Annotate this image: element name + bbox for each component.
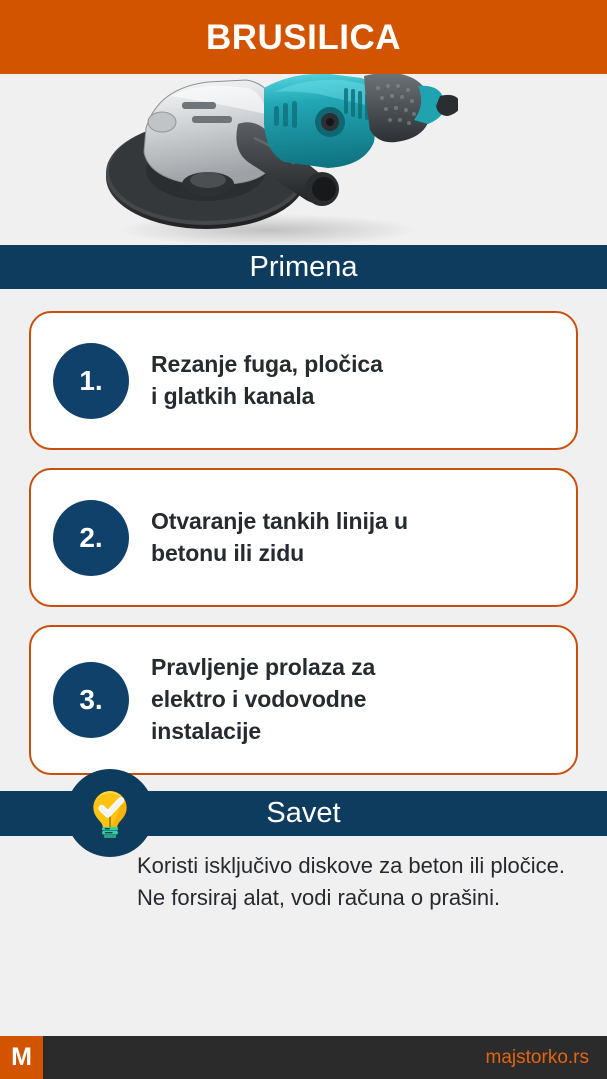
- step-badge-2: 2.: [53, 500, 129, 576]
- application-card-1-text: Rezanje fuga, pločica i glatkih kanala: [151, 349, 383, 412]
- application-card-3[interactable]: 3. Pravljenje prolaza za elektro i vodov…: [29, 625, 578, 775]
- page-title: BRUSILICA: [206, 20, 401, 55]
- card-2-line-1: Otvaranje tankih linija u: [151, 506, 408, 538]
- application-card-1[interactable]: 1. Rezanje fuga, pločica i glatkih kanal…: [29, 311, 578, 450]
- section-band-primena: Primena: [0, 245, 607, 289]
- lightbulb-check-icon: [82, 785, 138, 841]
- card-1-line-1: Rezanje fuga, pločica: [151, 349, 383, 381]
- card-3-line-2: elektro i vodovodne: [151, 684, 375, 716]
- card-2-line-2: betonu ili zidu: [151, 538, 408, 570]
- hero-image-area: [0, 74, 607, 245]
- card-3-line-3: instalacije: [151, 716, 375, 748]
- tip-icon-container: [66, 769, 154, 857]
- step-badge-1: 1.: [53, 343, 129, 419]
- section-title-savet: Savet: [266, 799, 340, 828]
- card-3-line-1: Pravljenje prolaza za: [151, 652, 375, 684]
- angle-grinder-photo: [78, 58, 458, 248]
- step-badge-3: 3.: [53, 662, 129, 738]
- application-card-list: 1. Rezanje fuga, pločica i glatkih kanal…: [0, 289, 607, 775]
- section-title-primena: Primena: [250, 253, 358, 282]
- tip-section: Savet: [0, 791, 607, 914]
- page-footer: M majstorko.rs: [0, 1036, 607, 1079]
- page-header: BRUSILICA: [0, 0, 607, 74]
- application-card-2-text: Otvaranje tankih linija u betonu ili zid…: [151, 506, 408, 569]
- application-card-3-text: Pravljenje prolaza za elektro i vodovodn…: [151, 652, 375, 747]
- footer-website-link[interactable]: majstorko.rs: [486, 1047, 607, 1069]
- card-1-line-2: i glatkih kanala: [151, 381, 383, 413]
- brand-logo[interactable]: M: [0, 1036, 43, 1079]
- application-card-2[interactable]: 2. Otvaranje tankih linija u betonu ili …: [29, 468, 578, 607]
